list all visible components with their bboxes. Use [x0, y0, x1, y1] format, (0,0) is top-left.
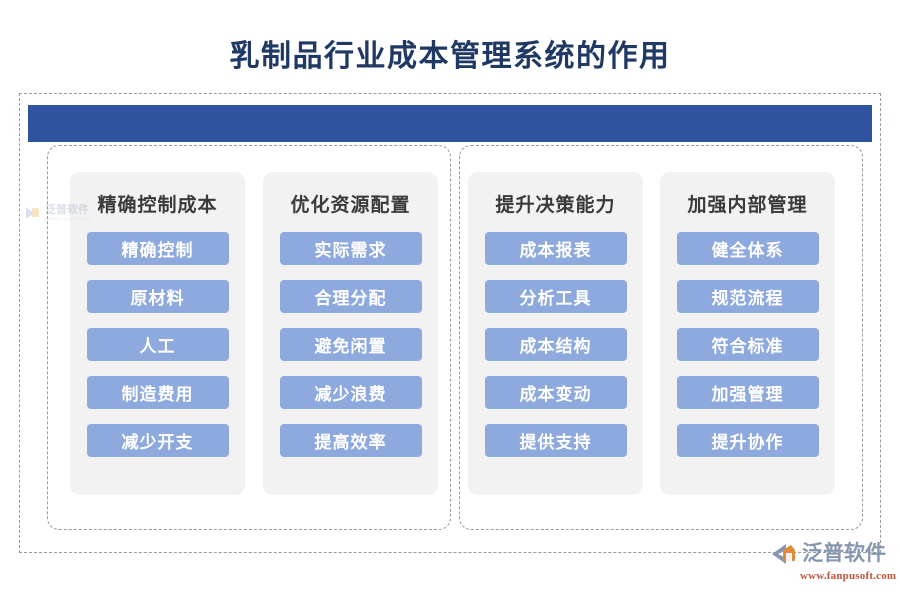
brand-url: www.fanpusoft.com	[800, 569, 890, 583]
page-title: 乳制品行业成本管理系统的作用	[0, 38, 900, 76]
pill-item[interactable]: 成本变动	[485, 376, 627, 409]
header-band	[28, 105, 872, 142]
pill-item[interactable]: 合理分配	[280, 280, 422, 313]
column-panel-1: 精确控制成本 精确控制 原材料 人工 制造费用 减少开支	[70, 172, 245, 495]
column-panel-2: 优化资源配置 实际需求 合理分配 避免闲置 减少浪费 提高效率	[263, 172, 438, 495]
pill-item[interactable]: 制造费用	[87, 376, 229, 409]
pill-item[interactable]: 加强管理	[677, 376, 819, 409]
pill-item[interactable]: 提供支持	[485, 424, 627, 457]
pill-list-2: 实际需求 合理分配 避免闲置 减少浪费 提高效率	[263, 232, 438, 457]
brand-logo: 泛普软件 www.fanpusoft.com	[770, 540, 890, 586]
pill-item[interactable]: 提高效率	[280, 424, 422, 457]
pill-item[interactable]: 精确控制	[87, 232, 229, 265]
pill-item[interactable]: 避免闲置	[280, 328, 422, 361]
pill-item[interactable]: 成本结构	[485, 328, 627, 361]
brand-row: 泛普软件	[770, 540, 890, 568]
pill-list-3: 成本报表 分析工具 成本结构 成本变动 提供支持	[468, 232, 643, 457]
column-heading-1: 精确控制成本	[97, 194, 217, 218]
column-panel-3: 提升决策能力 成本报表 分析工具 成本结构 成本变动 提供支持	[468, 172, 643, 495]
pill-list-1: 精确控制 原材料 人工 制造费用 减少开支	[70, 232, 245, 457]
brand-name: 泛普软件	[802, 541, 886, 567]
pill-item[interactable]: 成本报表	[485, 232, 627, 265]
pill-item[interactable]: 提升协作	[677, 424, 819, 457]
column-panel-4: 加强内部管理 健全体系 规范流程 符合标准 加强管理 提升协作	[660, 172, 835, 495]
pill-item[interactable]: 原材料	[87, 280, 229, 313]
pill-item[interactable]: 健全体系	[677, 232, 819, 265]
fanpu-logo-icon	[770, 541, 798, 567]
pill-item[interactable]: 减少开支	[87, 424, 229, 457]
pill-item[interactable]: 减少浪费	[280, 376, 422, 409]
pill-item[interactable]: 规范流程	[677, 280, 819, 313]
pill-item[interactable]: 实际需求	[280, 232, 422, 265]
pill-list-4: 健全体系 规范流程 符合标准 加强管理 提升协作	[660, 232, 835, 457]
pill-item[interactable]: 分析工具	[485, 280, 627, 313]
pill-item[interactable]: 人工	[87, 328, 229, 361]
pill-item[interactable]: 符合标准	[677, 328, 819, 361]
column-heading-2: 优化资源配置	[290, 194, 410, 218]
column-heading-3: 提升决策能力	[495, 194, 615, 218]
column-heading-4: 加强内部管理	[687, 194, 807, 218]
